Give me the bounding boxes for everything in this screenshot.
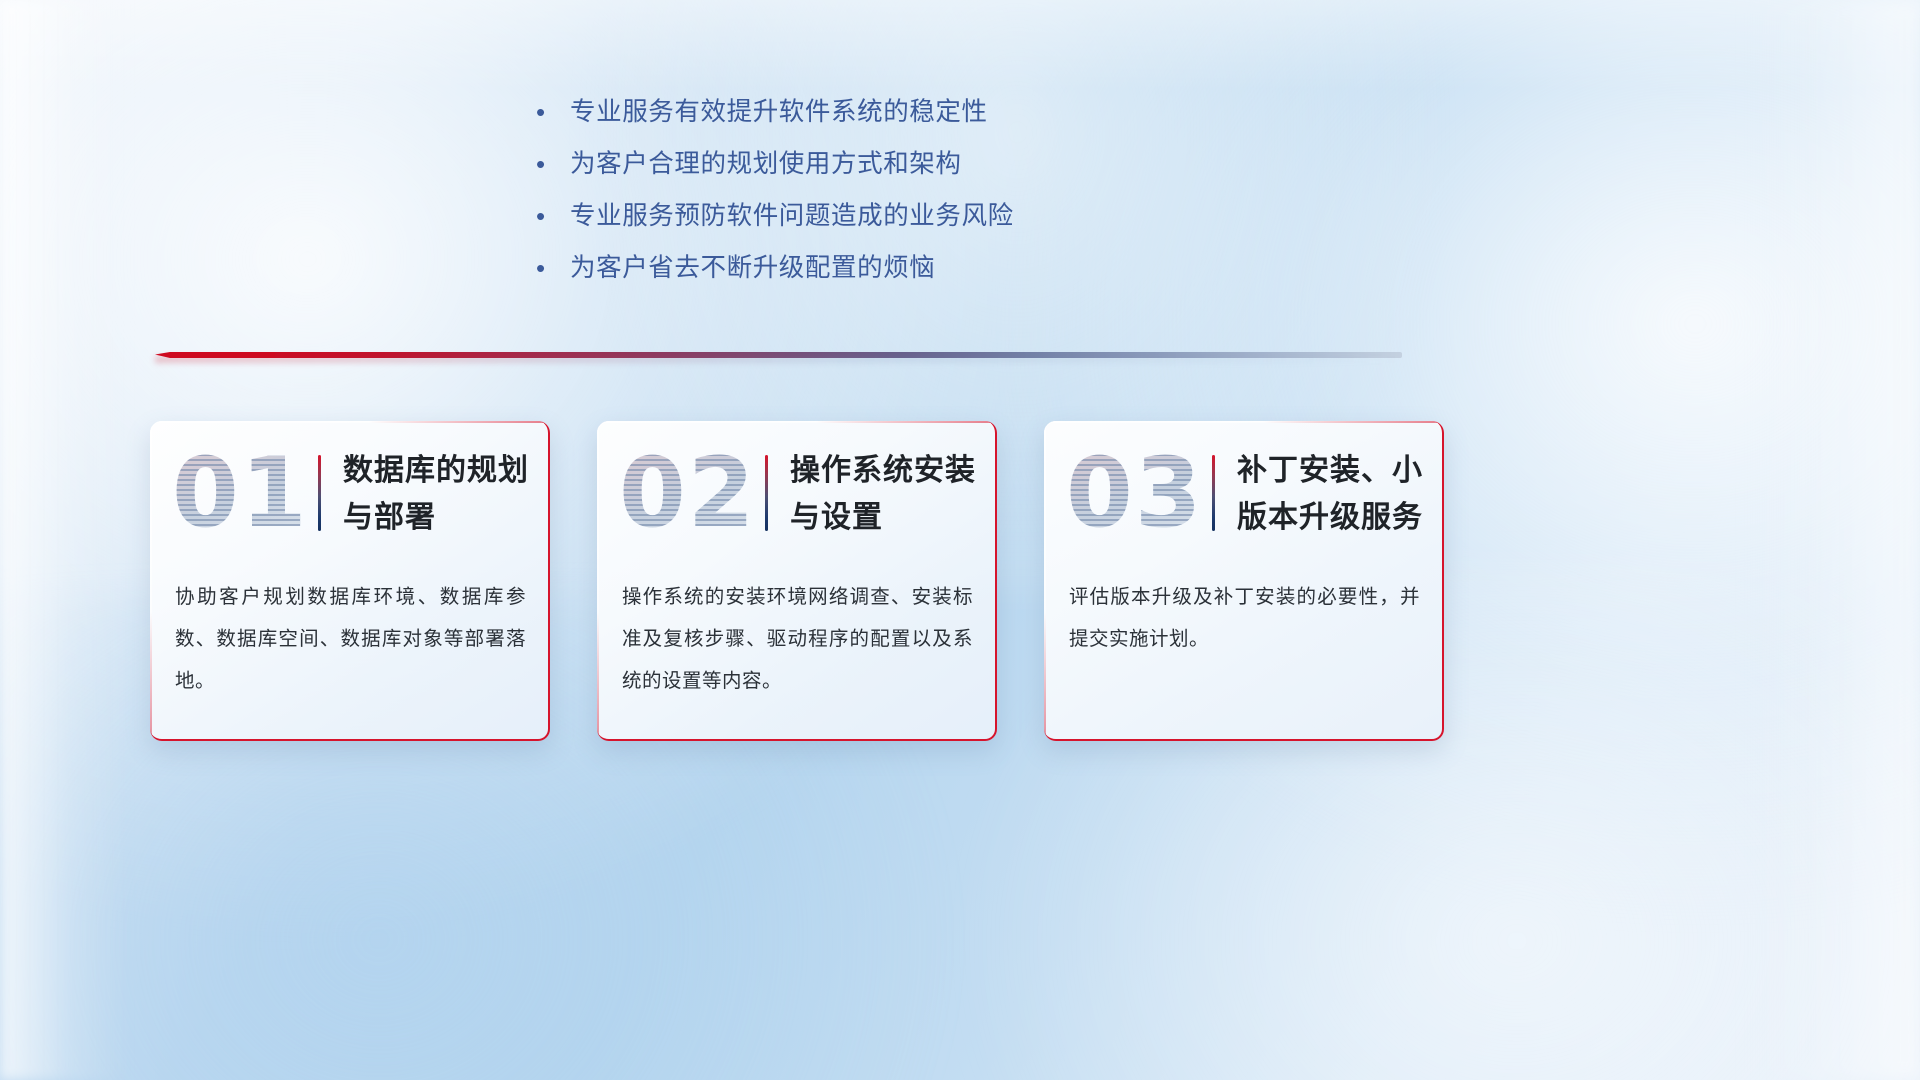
- card-title-line1: 操作系统安装: [790, 454, 976, 487]
- bullet-text: 为客户合理的规划使用方式和架构: [570, 144, 962, 184]
- card-title-divider: [765, 455, 768, 531]
- service-card-list: 01 01 数据库的规划与部署 协助客户规划数据库环境、数据库参数、数据库空间、…: [150, 421, 1444, 741]
- card-title-line2: 版本升级服务: [1237, 501, 1423, 534]
- bullet-item: • 专业服务有效提升软件系统的稳定性: [536, 92, 1156, 144]
- card-title-line1: 数据库的规划: [343, 454, 529, 487]
- card-description: 协助客户规划数据库环境、数据库参数、数据库空间、数据库对象等部署落地。: [175, 576, 526, 702]
- section-divider-rule: [155, 348, 1402, 362]
- bullet-marker-icon: •: [536, 196, 570, 236]
- bullet-text: 专业服务有效提升软件系统的稳定性: [570, 92, 988, 132]
- card-title-divider: [318, 455, 321, 531]
- bullet-text: 专业服务预防软件问题造成的业务风险: [570, 196, 1014, 236]
- background-right-streak: [1740, 0, 1920, 1080]
- service-card[interactable]: 01 01 数据库的规划与部署 协助客户规划数据库环境、数据库参数、数据库空间、…: [150, 421, 550, 741]
- card-number-watermark: 03: [1066, 439, 1194, 547]
- card-title: 操作系统安装与设置: [790, 447, 981, 541]
- benefits-bullet-list: • 专业服务有效提升软件系统的稳定性 • 为客户合理的规划使用方式和架构 • 专…: [536, 92, 1156, 300]
- bullet-marker-icon: •: [536, 92, 570, 132]
- card-header: 02 02 操作系统安装与设置: [597, 421, 995, 561]
- bullet-item: • 为客户合理的规划使用方式和架构: [536, 144, 1156, 196]
- card-header: 01 01 数据库的规划与部署: [150, 421, 548, 561]
- divider-rule-glow: [155, 356, 1402, 363]
- bullet-marker-icon: •: [536, 144, 570, 184]
- card-title: 补丁安装、小版本升级服务: [1237, 447, 1428, 541]
- card-number-watermark: 02: [619, 439, 747, 547]
- service-card[interactable]: 02 02 操作系统安装与设置 操作系统的安装环境网络调查、安装标准及复核步骤、…: [597, 421, 997, 741]
- card-header: 03 03 补丁安装、小版本升级服务: [1044, 421, 1442, 561]
- card-description: 操作系统的安装环境网络调查、安装标准及复核步骤、驱动程序的配置以及系统的设置等内…: [622, 576, 973, 702]
- card-title-line2: 与部署: [343, 501, 436, 534]
- bullet-marker-icon: •: [536, 248, 570, 288]
- card-title-line1: 补丁安装、小: [1237, 454, 1423, 487]
- bullet-item: • 专业服务预防软件问题造成的业务风险: [536, 196, 1156, 248]
- card-title-line2: 与设置: [790, 501, 883, 534]
- bullet-item: • 为客户省去不断升级配置的烦恼: [536, 248, 1156, 300]
- card-number-watermark: 01: [172, 439, 300, 547]
- card-title-divider: [1212, 455, 1215, 531]
- card-description: 评估版本升级及补丁安装的必要性，并提交实施计划。: [1069, 576, 1420, 660]
- background-left-streak: [0, 0, 130, 1080]
- service-card[interactable]: 03 03 补丁安装、小版本升级服务 评估版本升级及补丁安装的必要性，并提交实施…: [1044, 421, 1444, 741]
- background-top-highlight: [0, 0, 1920, 90]
- bullet-text: 为客户省去不断升级配置的烦恼: [570, 248, 935, 288]
- card-title: 数据库的规划与部署: [343, 447, 534, 541]
